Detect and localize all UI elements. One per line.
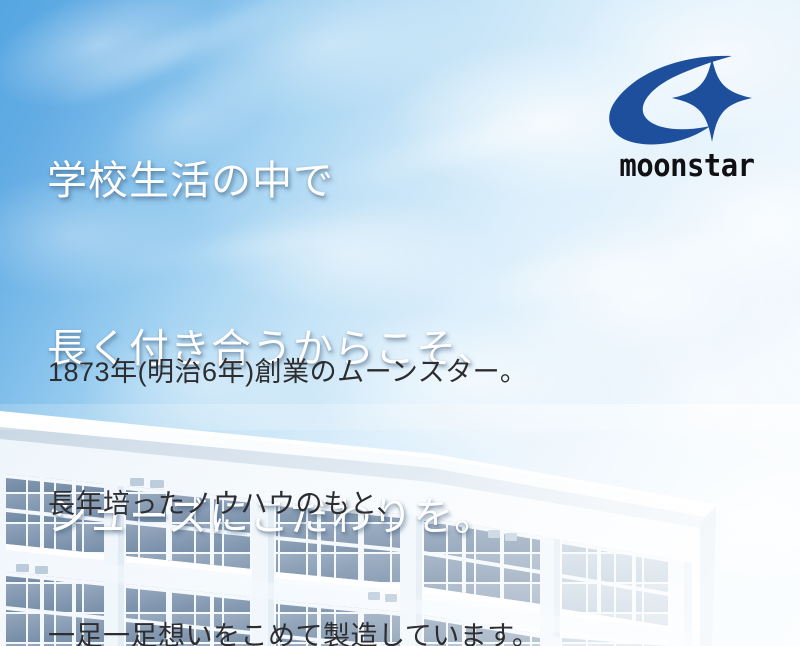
moonstar-wordmark: moonstar (599, 148, 776, 184)
body-line-1: 1873年(明治6年)創業のムーンスター。 (48, 350, 540, 394)
headline-line-1: 学校生活の中で (47, 153, 498, 209)
moonstar-logo[interactable]: moonstar (592, 52, 782, 182)
body-line-2: 長年培ったノウハウのもと、 (48, 482, 540, 526)
banner-root: 学校生活の中で 長く付き合うからこそ、 シューズにこだわりを。 1873年(明治… (0, 0, 800, 646)
body-line-3: 一足一足想いをこめて製造しています。 (48, 614, 540, 646)
body-copy: 1873年(明治6年)創業のムーンスター。 長年培ったノウハウのもと、 一足一足… (48, 262, 540, 646)
crescent-moon-and-star-icon (600, 52, 780, 148)
